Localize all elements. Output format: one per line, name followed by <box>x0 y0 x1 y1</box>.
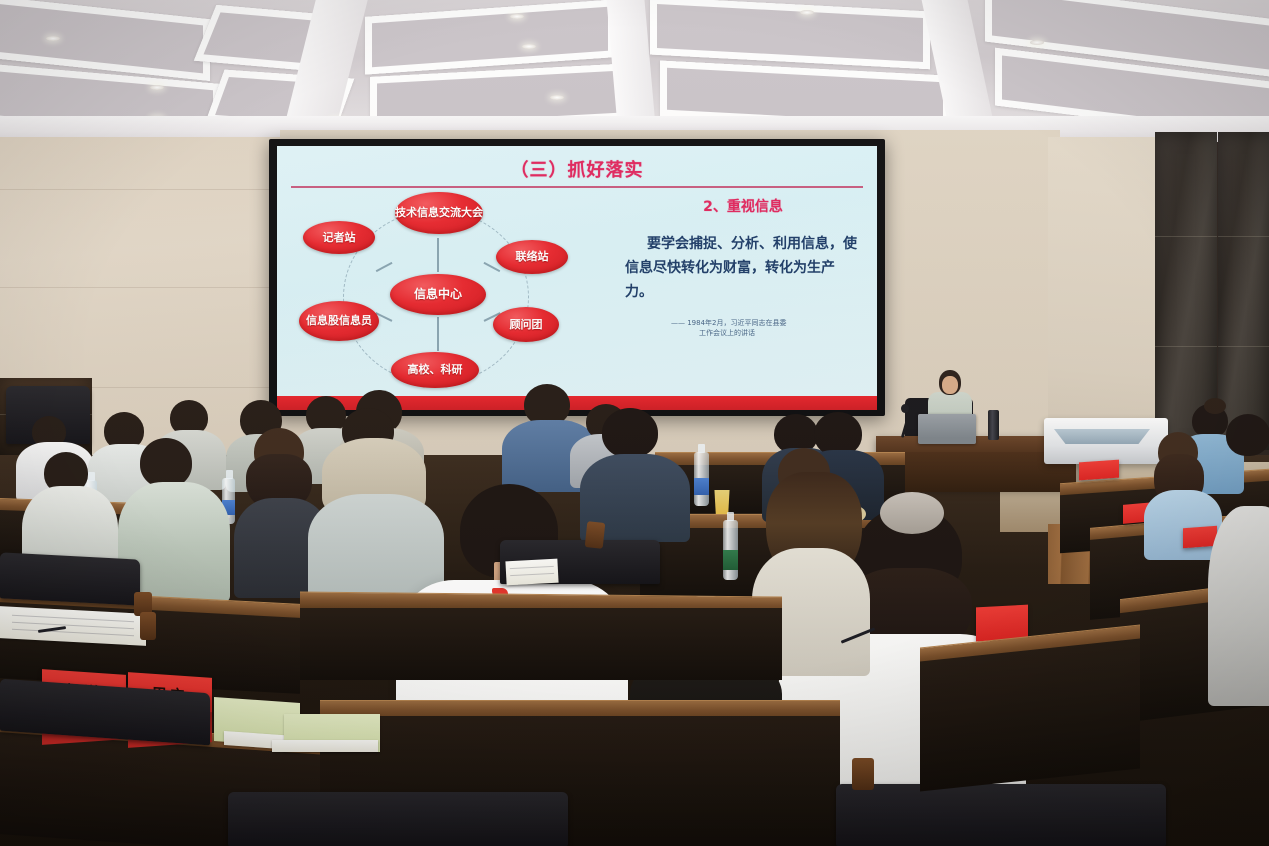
bottle-label <box>723 550 738 570</box>
diagram-node-top-left: 记者站 <box>303 221 375 254</box>
diagram-node-top: 技术信息交流大会 <box>395 192 483 234</box>
handout-paper <box>272 740 378 752</box>
audience-chair[interactable] <box>836 784 1166 846</box>
person-head <box>602 408 658 458</box>
audience-chair[interactable] <box>0 552 140 605</box>
slide-body-text: 要学会捕捉、分析、利用信息，使信息尽快转化为财富，转化为生产力。 <box>619 232 867 304</box>
diagram-node-top-right: 联络站 <box>496 240 568 274</box>
water-bottle <box>723 520 738 580</box>
handout-paper <box>505 559 558 586</box>
person-torso <box>1144 490 1222 560</box>
bottle-label <box>694 478 709 495</box>
ceiling-downlight <box>46 36 60 41</box>
slide-surface: （三）抓好落实 信息中心 技术信息交流大会 联络站 顾问团 高校、科研 信息股信… <box>277 146 877 410</box>
slide-citation-line2: 工作会议上的讲话 <box>671 328 867 338</box>
name-card <box>1079 460 1119 481</box>
ceiling-downlight <box>800 10 814 15</box>
slide-title: （三）抓好落实 <box>277 156 877 182</box>
diagram-arrow <box>437 238 439 272</box>
ceiling-downlight <box>522 44 536 49</box>
ceiling-panel <box>650 0 930 69</box>
slide-citation: —— 1984年2月，习近平同志在县委 工作会议上的讲话 <box>619 318 867 338</box>
diagram-node-center: 信息中心 <box>390 274 486 315</box>
ceiling-downlight <box>150 85 164 90</box>
projector-unit <box>1044 418 1168 464</box>
slide-diagram: 信息中心 技术信息交流大会 联络站 顾问团 高校、科研 信息股信息员 记者站 <box>291 194 621 402</box>
chair-armrest <box>140 612 156 640</box>
presentation-screen[interactable]: （三）抓好落实 信息中心 技术信息交流大会 联络站 顾问团 高校、科研 信息股信… <box>269 139 885 416</box>
name-card-mid-right <box>976 605 1028 642</box>
slide-divider <box>291 186 863 188</box>
audience-chair[interactable] <box>228 792 568 846</box>
ceiling-downlight <box>1030 40 1044 45</box>
hair-bun <box>1204 398 1226 414</box>
diagram-node-bottom: 高校、科研 <box>391 352 479 388</box>
microphone-icon[interactable] <box>901 404 909 413</box>
wall-panel-dark <box>1218 132 1269 450</box>
ceiling-panel <box>365 0 615 75</box>
person-torso <box>1208 506 1269 706</box>
person-head <box>140 438 192 488</box>
diagram-node-bottom-right: 顾问团 <box>493 307 559 342</box>
presenter-face <box>942 376 958 394</box>
conference-room-photo: （三）抓好落实 信息中心 技术信息交流大会 联络站 顾问团 高校、科研 信息股信… <box>0 0 1269 846</box>
ceiling-downlight <box>510 14 524 19</box>
person-head <box>1226 414 1269 456</box>
hair-bun <box>880 492 944 534</box>
diagram-arrow <box>437 317 439 351</box>
slide-subheading: 2、重视信息 <box>619 196 867 216</box>
slide-text-block: 2、重视信息 要学会捕捉、分析、利用信息，使信息尽快转化为财富，转化为生产力。 … <box>619 196 867 339</box>
presenter-laptop[interactable] <box>918 414 976 444</box>
tumbler <box>988 410 999 440</box>
diagram-node-bottom-left: 信息股信息员 <box>299 301 379 341</box>
desk-front-center-front <box>300 608 782 680</box>
chair-armrest <box>852 758 874 790</box>
desk-front-center-right-3 <box>920 638 1140 791</box>
chair-armrest <box>585 521 606 549</box>
ceiling-downlight <box>550 95 564 100</box>
water-bottle <box>694 452 709 506</box>
slide-citation-line1: —— 1984年2月，习近平同志在县委 <box>671 318 867 328</box>
